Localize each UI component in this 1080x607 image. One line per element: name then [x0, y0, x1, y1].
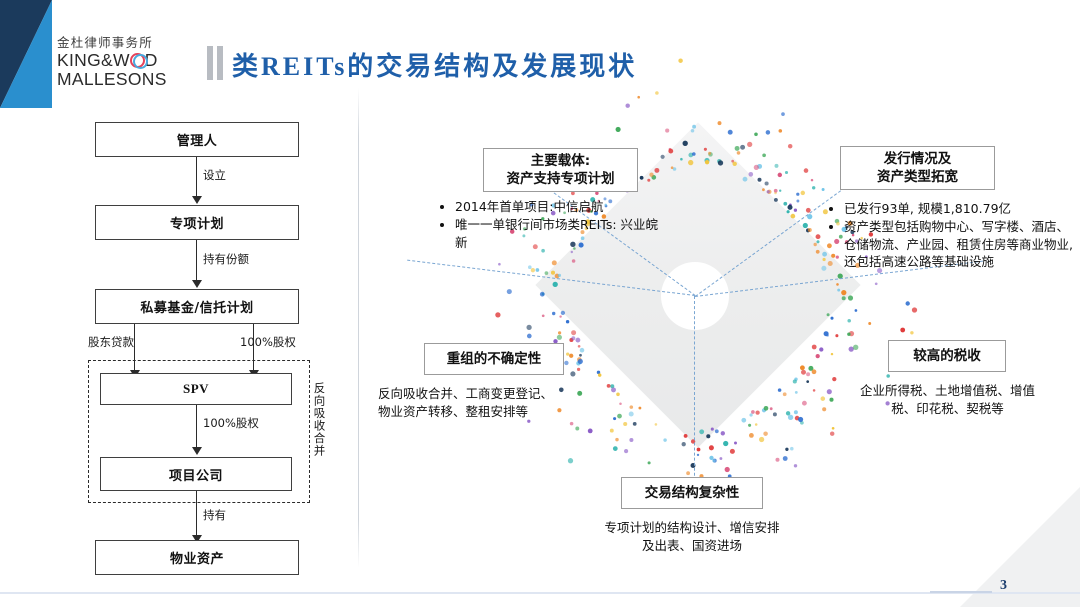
card-issuance-title-2: 资产类型拓宽 [877, 168, 958, 186]
flow-connector-1 [196, 157, 197, 198]
card-issuance-bullet-1: 已发行93单, 规模1,810.79亿 [844, 200, 1080, 218]
card-complexity-description: 专项计划的结构设计、增信安排 及出表、国资进场 [576, 519, 808, 555]
flow-connector-4 [196, 405, 197, 449]
card-main-vehicle-title-1: 主要载体: [531, 152, 590, 170]
card-restructuring[interactable]: 重组的不确定性 [424, 343, 564, 375]
flow-edge-label-equity-100b: 100%股权 [203, 415, 259, 431]
flow-edge-label-equity-100a: 100%股权 [240, 334, 296, 350]
card-issuance-description: 已发行93单, 规模1,810.79亿 资产类型包括购物中心、写字楼、酒店、仓储… [830, 200, 1080, 271]
flow-arrow-2-icon [192, 280, 202, 288]
flow-node-spv: SPV [100, 373, 292, 405]
reits-overview-diagram: 主要载体: 资产支持专项计划 2014年首单项目:中信启航 唯一一单银行间市场类… [358, 0, 1080, 607]
flow-node-special-plan: 专项计划 [95, 205, 299, 240]
card-main-vehicle-title-2: 资产支持专项计划 [507, 170, 615, 188]
flow-edge-label-hold-share: 持有份额 [203, 251, 249, 267]
confetti-dots-graphic [358, 0, 1080, 607]
slide-canvas: 金杜律师事务所 KING&W D MALLESONS 类REITs的交易结构及发… [0, 0, 1080, 607]
card-complexity-title: 交易结构复杂性 [645, 484, 740, 502]
flow-edge-label-setup: 设立 [203, 167, 226, 183]
flow-arrow-4-icon [192, 447, 202, 455]
flow-connector-5 [196, 491, 197, 537]
card-restructuring-description: 反向吸收合并、工商变更登记、 物业资产转移、整租安排等 [378, 385, 603, 421]
card-restructuring-title: 重组的不确定性 [447, 350, 542, 368]
card-issuance-title-1: 发行情况及 [884, 150, 952, 168]
flow-node-fund-trust: 私募基金/信托计划 [95, 289, 299, 324]
card-issuance[interactable]: 发行情况及 资产类型拓宽 [840, 146, 995, 190]
flow-arrow-1-icon [192, 196, 202, 204]
card-complexity[interactable]: 交易结构复杂性 [621, 477, 763, 509]
flow-node-project-company: 项目公司 [100, 457, 292, 491]
flow-node-manager: 管理人 [95, 122, 299, 157]
card-tax-title: 较高的税收 [913, 347, 981, 365]
flow-edge-label-hold: 持有 [203, 507, 226, 523]
flow-connector-2 [196, 240, 197, 282]
card-tax-description: 企业所得税、土地增值税、增值 税、印花税、契税等 [840, 382, 1055, 418]
card-main-vehicle-description: 2014年首单项目:中信启航 唯一一单银行间市场类REITs: 兴业皖新 [441, 198, 666, 251]
transaction-structure-flowchart: 管理人 设立 专项计划 持有份额 私募基金/信托计划 股东贷款 100%股权 反… [0, 0, 358, 607]
card-main-vehicle-bullet-1: 2014年首单项目:中信启航 [455, 198, 666, 216]
card-tax[interactable]: 较高的税收 [888, 340, 1006, 372]
flow-node-property-asset: 物业资产 [95, 540, 299, 575]
ray-to-complexity [694, 296, 695, 496]
card-issuance-bullet-2: 资产类型包括购物中心、写字楼、酒店、仓储物流、产业园、租赁住房等商业物业, 还包… [844, 218, 1080, 271]
reverse-merger-group-label: 反向吸收合并 [313, 382, 325, 457]
card-main-vehicle[interactable]: 主要载体: 资产支持专项计划 [483, 148, 638, 192]
card-main-vehicle-bullet-2: 唯一一单银行间市场类REITs: 兴业皖新 [455, 216, 666, 252]
flow-edge-label-shareholder-loan: 股东贷款 [88, 334, 134, 350]
